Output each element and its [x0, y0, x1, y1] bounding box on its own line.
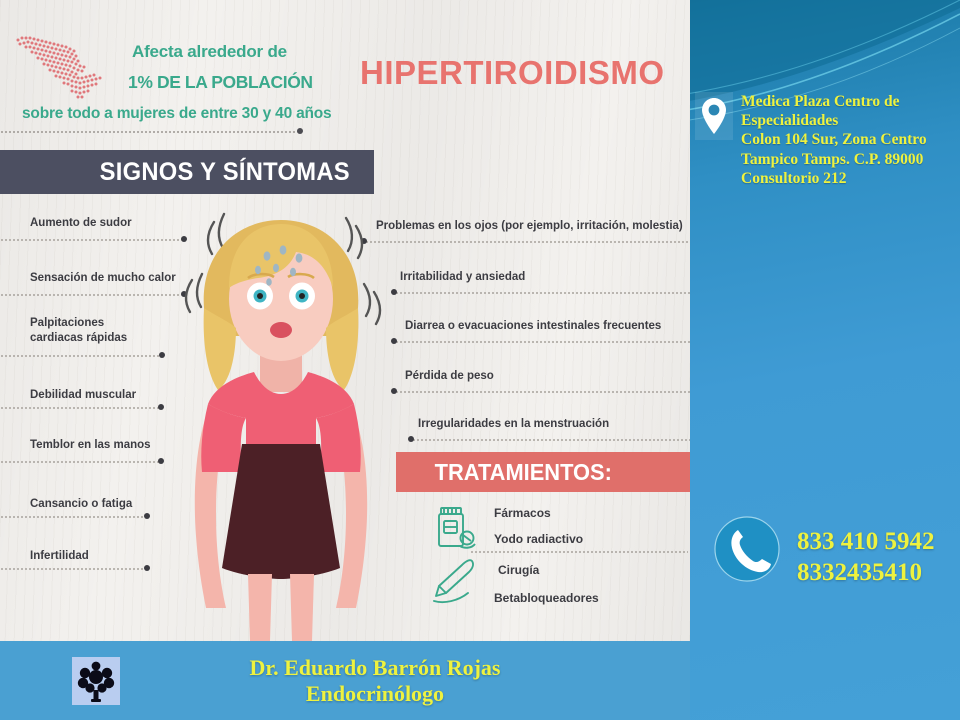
clinic-emblem-icon	[72, 657, 120, 705]
tratamiento-item-4: Betabloqueadores	[494, 591, 599, 605]
tratamiento-item-1: Fármacos	[494, 506, 551, 520]
mexico-map-dotted-icon	[12, 28, 116, 102]
tratamientos-banner-label: TRATAMIENTOS:	[435, 459, 612, 486]
tratamientos-banner: TRATAMIENTOS:	[396, 452, 690, 492]
footer-specialty: Endocrinólogo	[120, 681, 630, 707]
symptom-right-3: Diarrea o evacuaciones intestinales frec…	[405, 319, 661, 334]
header-line-1: Afecta alrededor de	[132, 42, 287, 62]
phone-handset-icon	[712, 514, 782, 584]
symptom-right-rule-4	[395, 391, 690, 393]
tratamientos-divider	[470, 551, 688, 553]
footer-doctor-block: Dr. Eduardo Barrón Rojas Endocrinólogo	[120, 655, 690, 707]
symptom-left-rule-3	[0, 355, 160, 357]
symptom-left-4: Debilidad muscular	[30, 388, 136, 403]
symptom-left-rule-6	[0, 516, 145, 518]
symptom-right-rule-3	[395, 341, 690, 343]
symptom-left-rule-7	[0, 568, 145, 570]
location-pin-icon	[695, 92, 733, 140]
phone-numbers[interactable]: 833 410 5942 8332435410	[797, 527, 935, 588]
symptom-left-1: Aumento de sudor	[30, 216, 132, 231]
header-dotted-rule	[0, 131, 298, 133]
infographic-card: Afecta alrededor de 1% DE LA POBLACIÓN s…	[0, 0, 690, 641]
symptom-right-5: Irregularidades en la menstruación	[418, 417, 609, 432]
header-dot-marker	[297, 128, 303, 134]
symptom-right-1: Problemas en los ojos (por ejemplo, irri…	[376, 219, 683, 234]
symptom-left-rule-4	[0, 407, 159, 409]
clinic-address-block: Medica Plaza Centro de Especialidades Co…	[695, 92, 957, 188]
header-line-3: sobre todo a mujeres de entre 30 y 40 añ…	[22, 105, 331, 123]
tratamiento-item-2: Yodo radiactivo	[494, 532, 583, 546]
footer-bar: Dr. Eduardo Barrón Rojas Endocrinólogo	[0, 641, 690, 720]
footer-doctor-name: Dr. Eduardo Barrón Rojas	[120, 655, 630, 681]
pill-bottle-icon	[432, 504, 478, 552]
illustration-woman	[150, 196, 420, 641]
tratamiento-item-3: Cirugía	[498, 563, 539, 577]
clinic-address-text: Medica Plaza Centro de Especialidades Co…	[741, 92, 957, 188]
signos-banner-label: SIGNOS Y SÍNTOMAS	[99, 158, 349, 187]
symptom-right-rule-5	[412, 439, 690, 441]
scalpel-icon	[428, 557, 482, 605]
symptom-left-rule-5	[0, 461, 159, 463]
symptom-left-7: Infertilidad	[30, 549, 89, 564]
symptom-left-3: Palpitaciones cardiacas rápidas	[30, 316, 127, 346]
symptom-right-rule-2	[395, 292, 690, 294]
signos-y-sintomas-banner: SIGNOS Y SÍNTOMAS	[0, 150, 374, 194]
symptom-left-6: Cansancio o fatiga	[30, 497, 132, 512]
page-title: HIPERTIROIDISMO	[360, 54, 665, 92]
symptom-left-5: Temblor en las manos	[30, 438, 151, 453]
header-line-2: 1% DE LA POBLACIÓN	[128, 72, 313, 93]
